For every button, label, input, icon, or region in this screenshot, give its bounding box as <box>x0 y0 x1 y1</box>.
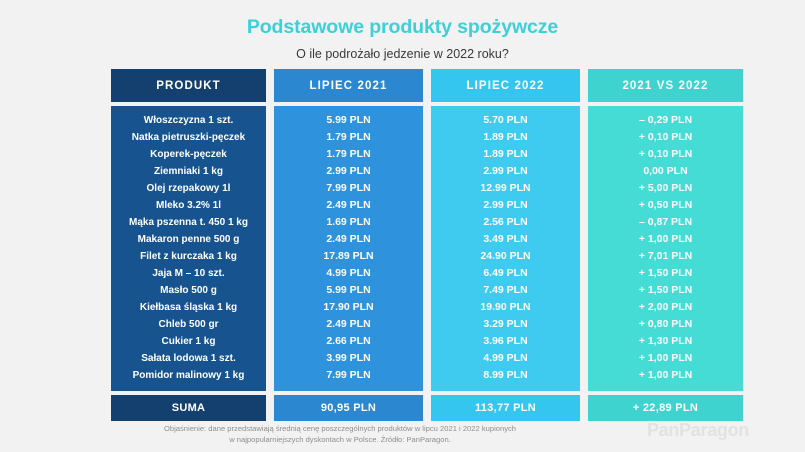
table-cell-product: Natka pietruszki-pęczek <box>111 129 266 146</box>
table-cell-difference: + 0,50 PLN <box>588 197 743 214</box>
table-cell-price-2021: 1.69 PLN <box>274 214 423 231</box>
table-cell-price-2021: 7.99 PLN <box>274 180 423 197</box>
table-cell-difference: + 0,10 PLN <box>588 129 743 146</box>
table-cell-product: Ziemniaki 1 kg <box>111 163 266 180</box>
table-cell-price-2022: 19.90 PLN <box>431 299 580 316</box>
table-cell-price-2021: 4.99 PLN <box>274 265 423 282</box>
table-cell-difference: + 2,00 PLN <box>588 299 743 316</box>
table-cell-price-2021: 2.66 PLN <box>274 333 423 350</box>
table-cell-price-2022: 3.49 PLN <box>431 231 580 248</box>
table-cell-difference: + 1,00 PLN <box>588 231 743 248</box>
column-july-2022: LIPIEC 2022 5.70 PLN 1.89 PLN 1.89 PLN 2… <box>431 69 580 421</box>
table-cell-product: Chleb 500 gr <box>111 316 266 333</box>
footnote-line-2: w najpopularniejszych dyskontach w Polsc… <box>60 434 620 445</box>
table-cell-price-2022: 5.70 PLN <box>431 112 580 129</box>
table-cell-price-2021: 2.99 PLN <box>274 163 423 180</box>
table-cell-difference: + 1,30 PLN <box>588 333 743 350</box>
table-cell-price-2021: 1.79 PLN <box>274 146 423 163</box>
table-cell-product: Koperek-pęczek <box>111 146 266 163</box>
table-cell-price-2022: 7.49 PLN <box>431 282 580 299</box>
column-header-july-2022: LIPIEC 2022 <box>431 69 580 102</box>
price-comparison-table: PRODUKT Włoszczyzna 1 szt. Natka pietrus… <box>111 69 751 421</box>
table-cell-price-2021: 17.90 PLN <box>274 299 423 316</box>
table-cell-difference: + 1,50 PLN <box>588 282 743 299</box>
table-cell-price-2021: 5.99 PLN <box>274 282 423 299</box>
brand-logo: PanParagon <box>647 420 749 441</box>
table-cell-price-2022: 6.49 PLN <box>431 265 580 282</box>
table-cell-price-2021: 2.49 PLN <box>274 231 423 248</box>
table-cell-product: Mleko 3.2% 1l <box>111 197 266 214</box>
table-cell-product: Makaron penne 500 g <box>111 231 266 248</box>
summary-total-2022: 113,77 PLN <box>431 395 580 421</box>
summary-label: SUMA <box>111 395 266 421</box>
table-cell-difference: + 1,00 PLN <box>588 350 743 367</box>
table-cell-difference: + 1,00 PLN <box>588 367 743 384</box>
table-cell-price-2022: 2.99 PLN <box>431 197 580 214</box>
table-cell-price-2021: 3.99 PLN <box>274 350 423 367</box>
column-july-2021: LIPIEC 2021 5.99 PLN 1.79 PLN 1.79 PLN 2… <box>274 69 423 421</box>
page-subtitle: O ile podrożało jedzenie w 2022 roku? <box>0 47 805 62</box>
page-title: Podstawowe produkty spożywcze <box>0 16 805 39</box>
table-cell-product: Filet z kurczaka 1 kg <box>111 248 266 265</box>
column-header-july-2021: LIPIEC 2021 <box>274 69 423 102</box>
column-body-difference: – 0,29 PLN + 0,10 PLN + 0,10 PLN 0,00 PL… <box>588 106 743 391</box>
table-cell-price-2022: 12.99 PLN <box>431 180 580 197</box>
column-body-july-2022: 5.70 PLN 1.89 PLN 1.89 PLN 2.99 PLN 12.9… <box>431 106 580 391</box>
summary-total-difference: + 22,89 PLN <box>588 395 743 421</box>
table-cell-price-2021: 5.99 PLN <box>274 112 423 129</box>
table-cell-product: Jaja M – 10 szt. <box>111 265 266 282</box>
table-cell-difference: + 5,00 PLN <box>588 180 743 197</box>
summary-total-2021: 90,95 PLN <box>274 395 423 421</box>
table-cell-price-2022: 2.99 PLN <box>431 163 580 180</box>
footnote: Objaśnienie: dane przedstawiają średnią … <box>60 423 620 445</box>
infographic-root: Podstawowe produkty spożywcze O ile podr… <box>0 0 805 452</box>
table-cell-price-2022: 4.99 PLN <box>431 350 580 367</box>
table-cell-product: Sałata lodowa 1 szt. <box>111 350 266 367</box>
column-header-difference: 2021 VS 2022 <box>588 69 743 102</box>
table-cell-product: Masło 500 g <box>111 282 266 299</box>
column-body-product: Włoszczyzna 1 szt. Natka pietruszki-pęcz… <box>111 106 266 391</box>
table-cell-product: Mąka pszenna t. 450 1 kg <box>111 214 266 231</box>
column-difference: 2021 VS 2022 – 0,29 PLN + 0,10 PLN + 0,1… <box>588 69 743 421</box>
table-cell-difference: + 1,50 PLN <box>588 265 743 282</box>
table-cell-price-2022: 24.90 PLN <box>431 248 580 265</box>
table-cell-product: Włoszczyzna 1 szt. <box>111 112 266 129</box>
table-cell-difference: – 0,87 PLN <box>588 214 743 231</box>
table-cell-price-2021: 1.79 PLN <box>274 129 423 146</box>
table-cell-product: Pomidor malinowy 1 kg <box>111 367 266 384</box>
table-cell-price-2021: 7.99 PLN <box>274 367 423 384</box>
table-cell-price-2022: 1.89 PLN <box>431 146 580 163</box>
table-cell-price-2021: 2.49 PLN <box>274 197 423 214</box>
column-body-july-2021: 5.99 PLN 1.79 PLN 1.79 PLN 2.99 PLN 7.99… <box>274 106 423 391</box>
column-product: PRODUKT Włoszczyzna 1 szt. Natka pietrus… <box>111 69 266 421</box>
table-cell-difference: + 7,01 PLN <box>588 248 743 265</box>
table-cell-price-2022: 1.89 PLN <box>431 129 580 146</box>
table-cell-difference: + 0,10 PLN <box>588 146 743 163</box>
table-cell-price-2022: 8.99 PLN <box>431 367 580 384</box>
table-cell-product: Cukier 1 kg <box>111 333 266 350</box>
table-cell-difference: + 0,80 PLN <box>588 316 743 333</box>
title-block: Podstawowe produkty spożywcze O ile podr… <box>0 16 805 62</box>
table-cell-product: Kiełbasa śląska 1 kg <box>111 299 266 316</box>
footnote-line-1: Objaśnienie: dane przedstawiają średnią … <box>60 423 620 434</box>
table-cell-price-2021: 17.89 PLN <box>274 248 423 265</box>
table-cell-price-2021: 2.49 PLN <box>274 316 423 333</box>
table-cell-price-2022: 3.29 PLN <box>431 316 580 333</box>
table-cell-difference: 0,00 PLN <box>588 163 743 180</box>
table-cell-price-2022: 3.96 PLN <box>431 333 580 350</box>
table-cell-price-2022: 2.56 PLN <box>431 214 580 231</box>
column-header-product: PRODUKT <box>111 69 266 102</box>
table-cell-difference: – 0,29 PLN <box>588 112 743 129</box>
table-cell-product: Olej rzepakowy 1l <box>111 180 266 197</box>
